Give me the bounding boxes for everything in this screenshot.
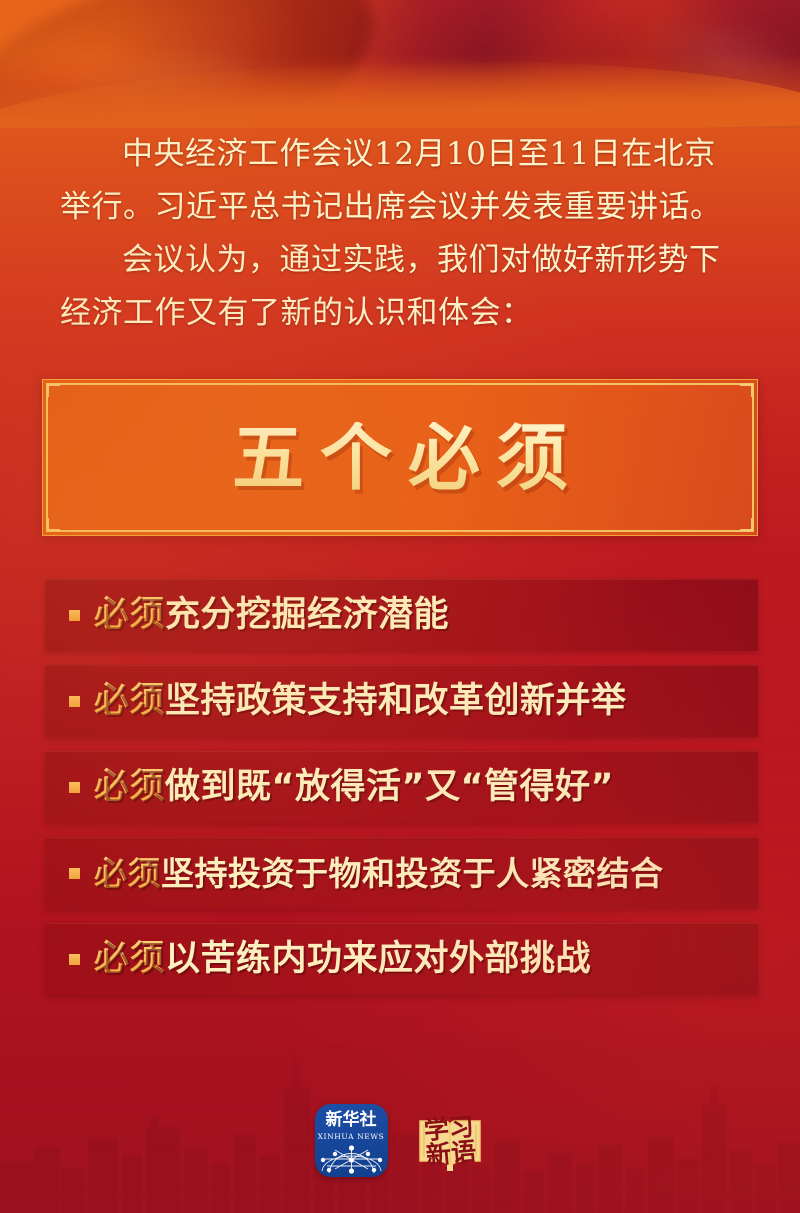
lead-paragraph-2: 会议认为，通过实践，我们对做好新形势下经济工作又有了新的认识和体会： [60,234,740,340]
list-item: 必须做到既“放得活”又“管得好” [45,751,758,823]
square-bullet-icon [69,782,80,793]
list-item-keyword: 必须 [94,939,165,979]
xuexi-logo-text: 学习 新语 [420,1113,478,1168]
list-item-text: 必须充分挖掘经济潜能 [94,598,449,633]
square-bullet-icon [69,696,80,707]
list-item-rest: 以苦练内功来应对外部挑战 [165,939,591,979]
list-item: 必须坚持投资于物和投资于人紧密结合 [45,837,758,909]
list-item-rest: 坚持投资于物和投资于人紧密结合 [161,854,664,893]
square-bullet-icon [69,954,80,965]
xuexi-xinyu-logo[interactable]: 学习 新语 [414,1105,486,1177]
lead-text-block: 中央经济工作会议12月10日至11日在北京举行。习近平总书记出席会议并发表重要讲… [60,128,740,340]
list-item: 必须以苦练内功来应对外部挑战 [45,923,758,995]
must-list: 必须充分挖掘经济潜能 必须坚持政策支持和改革创新并举 必须做到既“放得活”又“管… [45,579,758,1009]
plate-corner-ornament-icon [740,518,753,531]
xinhua-news-logo[interactable]: 新华社 XINHUA NEWS [315,1104,388,1177]
list-item-keyword: 必须 [94,595,165,635]
list-item-text: 必须坚持投资于物和投资于人紧密结合 [94,857,664,890]
list-item-text: 必须以苦练内功来应对外部挑战 [94,942,591,977]
square-bullet-icon [69,868,80,879]
plate-corner-ornament-icon [740,384,753,397]
list-item-rest: 坚持政策支持和改革创新并举 [165,681,627,721]
lead-paragraph-1: 中央经济工作会议12月10日至11日在北京举行。习近平总书记出席会议并发表重要讲… [60,128,740,234]
list-item: 必须坚持政策支持和改革创新并举 [45,665,758,737]
network-globe-icon [315,1141,388,1175]
list-item-text: 必须坚持政策支持和改革创新并举 [94,684,627,719]
silk-banner-decoration [0,0,800,128]
poster-root: 中央经济工作会议12月10日至11日在北京举行。习近平总书记出席会议并发表重要讲… [0,0,800,1213]
footer-logos: 新华社 XINHUA NEWS [0,1104,800,1177]
title-plate: 五个必须 [42,379,758,536]
xinhua-logo-en-text: XINHUA NEWS [315,1133,388,1141]
list-item-text: 必须做到既“放得活”又“管得好” [94,770,614,805]
list-item: 必须充分挖掘经济潜能 [45,579,758,651]
xinhua-logo-cn-text: 新华社 [315,1112,388,1129]
plate-corner-ornament-icon [47,518,60,531]
plate-corner-ornament-icon [47,384,60,397]
list-item-keyword: 必须 [94,854,161,893]
list-item-rest: 做到既“放得活”又“管得好” [165,767,614,807]
list-item-keyword: 必须 [94,681,165,721]
xuexi-logo-line-2: 新语 [424,1136,476,1169]
square-bullet-icon [69,610,80,621]
page-title: 五个必须 [216,422,584,494]
list-item-rest: 充分挖掘经济潜能 [165,595,449,635]
list-item-keyword: 必须 [94,767,165,807]
